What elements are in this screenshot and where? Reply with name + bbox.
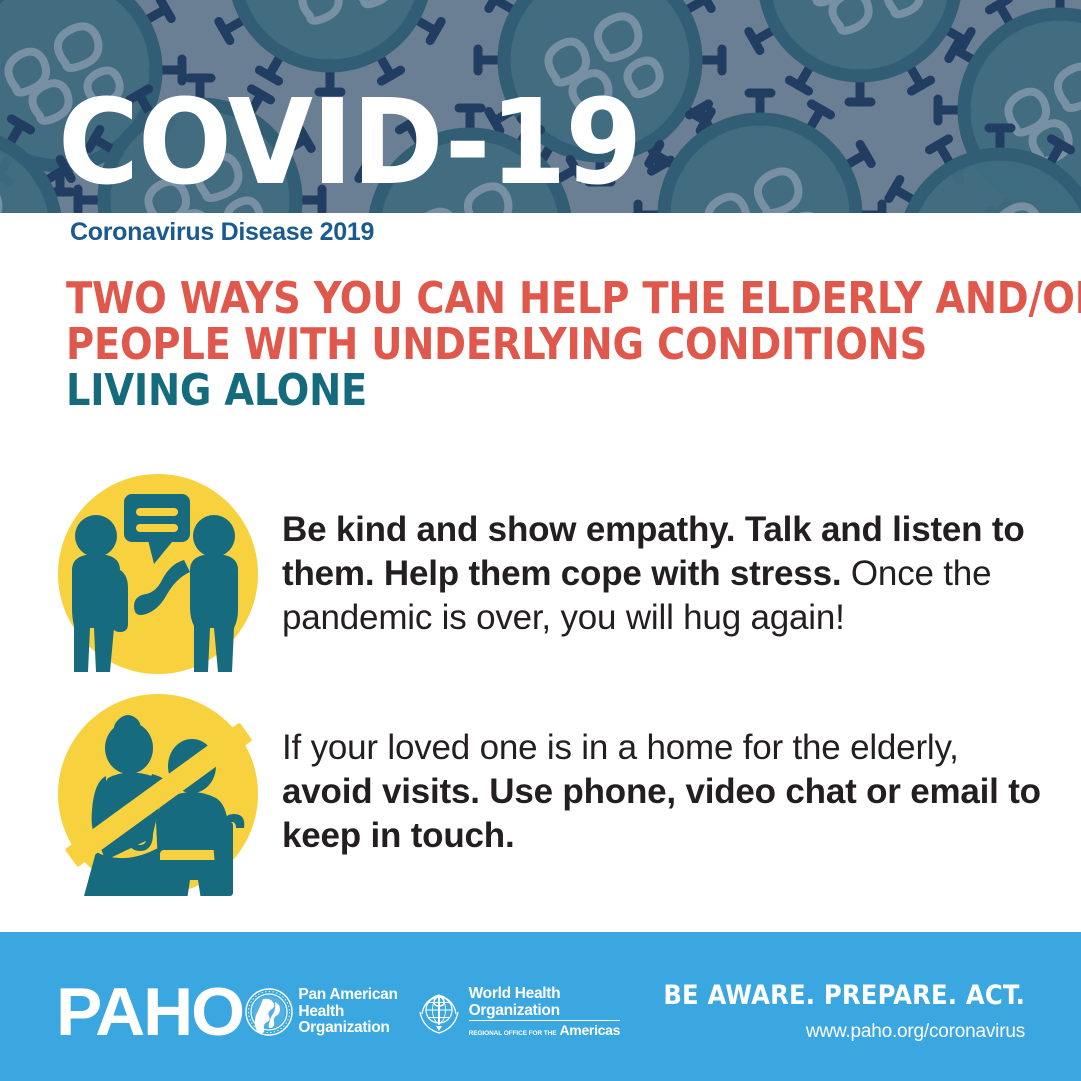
who-name: World Health Organization	[469, 986, 621, 1021]
headline-line-3: LIVING ALONE	[66, 368, 968, 414]
who-name-line-2: Organization	[469, 1002, 560, 1019]
headline-line-1: TWO WAYS YOU CAN HELP THE ELDERLY AND/OR	[66, 276, 968, 322]
paho-seal-lockup: Pan American Health Organization	[245, 987, 397, 1036]
headline-line-2: PEOPLE WITH UNDERLYING CONDITIONS	[66, 322, 968, 368]
who-region-small-text: REGIONAL OFFICE FOR THE	[469, 1031, 557, 1038]
footer-bar: PAHO Pan American Health	[0, 932, 1081, 1081]
covid-subtitle: Coronavirus Disease 2019	[70, 218, 374, 247]
two-people-talking-icon	[56, 472, 260, 676]
who-region: REGIONAL OFFICE FOR THE Americas	[469, 1023, 621, 1038]
footer-call-to-action: BE AWARE. PREPARE. ACT. www.paho.org/cor…	[663, 980, 1025, 1043]
who-region-name: Americas	[559, 1023, 620, 1038]
covid-wordmark: COVID-19	[58, 92, 641, 193]
paho-seal-text: Pan American Health Organization	[298, 987, 397, 1036]
paho-seal-line-1: Pan American	[298, 987, 397, 1003]
header-banner: COVID-19	[0, 0, 1081, 213]
tagline: BE AWARE. PREPARE. ACT.	[663, 980, 1025, 1011]
paho-wordmark: PAHO	[56, 978, 243, 1046]
message-text-1: Be kind and show empathy. Talk and liste…	[282, 472, 1042, 640]
footer-branding: PAHO Pan American Health	[56, 978, 620, 1046]
paho-seal-icon	[245, 988, 293, 1036]
message-row-1: Be kind and show empathy. Talk and liste…	[56, 472, 1042, 676]
headline: TWO WAYS YOU CAN HELP THE ELDERLY AND/OR…	[66, 276, 996, 415]
message-2-regular: If your loved one is in a home for the e…	[282, 728, 959, 767]
website-url[interactable]: www.paho.org/coronavirus	[663, 1021, 1025, 1043]
who-emblem-icon	[414, 987, 464, 1037]
who-name-line-1: World Health	[469, 985, 561, 1002]
no-visits-elderly-icon	[56, 692, 260, 896]
who-text-block: World Health Organization REGIONAL OFFIC…	[469, 986, 621, 1038]
paho-seal-line-3: Organization	[298, 1020, 397, 1036]
message-row-2: If your loved one is in a home for the e…	[56, 692, 1042, 896]
message-2-bold: avoid visits. Use phone, video chat or e…	[282, 772, 1041, 855]
who-logo-lockup: World Health Organization REGIONAL OFFIC…	[414, 986, 621, 1038]
covid-infographic-poster: COVID-19 Coronavirus Disease 2019 TWO WA…	[0, 0, 1081, 1081]
message-text-2: If your loved one is in a home for the e…	[282, 692, 1042, 858]
paho-seal-line-2: Health	[298, 1004, 397, 1020]
